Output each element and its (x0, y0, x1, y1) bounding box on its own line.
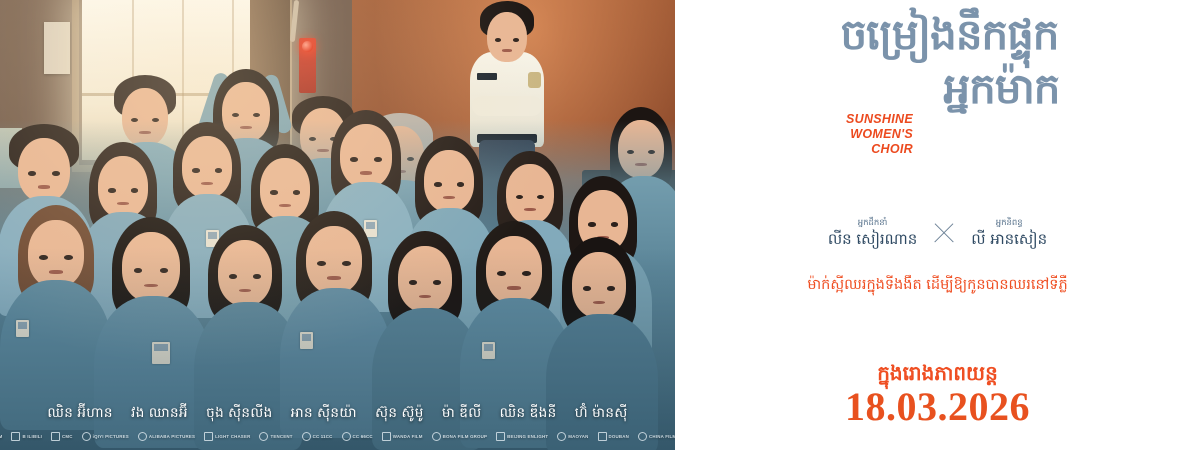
production-logo-label: ALIBABA PICTURES (149, 434, 195, 439)
officer-crossed-arms (472, 96, 542, 116)
fire-alarm-light-icon (302, 41, 313, 52)
production-logo: CC 11CC (302, 432, 333, 441)
person-row2-4 (260, 158, 310, 220)
credits-cross-icon (931, 220, 957, 246)
production-logo-label: DOUBAN (609, 434, 629, 439)
production-logo-label: LIGHT CHASER (215, 434, 250, 439)
production-logo-label: B ILIBILI (22, 434, 42, 439)
cast-name: ចុង ស៊ីនលីង (206, 405, 273, 420)
production-logo: TENCENT (259, 432, 292, 441)
production-logo-label: WANDA FILM (393, 434, 423, 439)
cast-name: ស៊ុន ស៊ូម៉ូ (375, 405, 424, 420)
production-logo-label: CMC (62, 434, 73, 439)
inmate-badge (152, 342, 170, 364)
inmate-badge (482, 342, 495, 359)
release-date: 18.03.2026 (675, 383, 1200, 430)
production-logo-label: CC 11CC (313, 434, 333, 439)
production-logo: LIGHT CHASER (204, 432, 250, 441)
cast-name-list: ឈិន អ៊ីហាន វង ឈានអ៊ី ចុង ស៊ីនលីង អាន ស៊ី… (0, 404, 675, 424)
producer-name: លី អានសៀន (971, 230, 1047, 249)
production-logo: MAOYAN (557, 432, 588, 441)
production-logo: WANDA FILM (382, 432, 423, 441)
movie-title-english: SUNSHINE WOMEN'S CHOIR (801, 112, 913, 156)
title-block: ចម្រៀងនឹកផ្ទុក អ្នកម៉ាក SUNSHINE WOMEN'S… (675, 8, 1200, 168)
production-logo: CHINA FILM (638, 432, 675, 441)
production-logo-label: TENCENT (270, 434, 292, 439)
person-row2-1 (18, 138, 70, 202)
person-officer (487, 12, 527, 62)
movie-poster-banner: ឈិន អ៊ីហាន វង ឈានអ៊ី ចុង ស៊ីនលីង អាន ស៊ី… (0, 0, 1200, 450)
wall-notice-paper (44, 22, 70, 74)
officer-rank-bar (477, 73, 497, 80)
crowd-group (0, 120, 675, 450)
cast-name: អាន ស៊ីនយ៉ា (291, 405, 357, 420)
producer-role-label: អ្នកនិពន្ធ (971, 218, 1047, 229)
person-front-7 (572, 252, 626, 318)
person-row2-3 (182, 136, 232, 198)
production-logo: BEIJING ENLIGHT (496, 432, 548, 441)
cast-name: ឈិន ឌីងនី (500, 405, 557, 420)
poster-photo: ឈិន អ៊ីហាន វង ឈានអ៊ី ចុង ស៊ីនលីង អាន ស៊ី… (0, 0, 675, 450)
movie-title-khmer-line1: ចម្រៀងនឹកផ្ទុក (675, 14, 1200, 56)
officer-shoulder-patch-icon (528, 72, 541, 88)
title-en-line2: WOMEN'S (801, 127, 913, 142)
production-logo-label: BEIJING ENLIGHT (507, 434, 548, 439)
poster-tagline: ម៉ាក់ស្អីឈរក្នុងទីងងឹត ដើម្បីឱ្យកូនបានឈរ… (675, 276, 1200, 297)
person-front-3 (218, 240, 272, 306)
director-name: លីន សៀរណាន (828, 230, 917, 249)
cast-name: ឈិន អ៊ីហាន (47, 405, 112, 420)
production-logo: iQIYI PICTURES (82, 432, 129, 441)
person-front-6 (486, 236, 542, 304)
person-front-5 (398, 246, 452, 312)
cast-name: ម៉ា ឌីលី (442, 405, 482, 420)
title-en-line3: CHOIR (801, 142, 913, 157)
production-logo: BONA FILM GROUP (432, 432, 488, 441)
title-en-line1: SUNSHINE (801, 112, 913, 127)
inmate-badge (16, 320, 29, 337)
production-logo-label: BONA FILM GROUP (443, 434, 488, 439)
producer-credit: អ្នកនិពន្ធ លី អានសៀន (971, 218, 1047, 248)
movie-title-khmer-line2: អ្នកម៉ាក (675, 68, 1200, 110)
credits-row: អ្នកដឹកនាំ លីន សៀរណាន អ្នកនិពន្ធ លី អានស… (675, 218, 1200, 248)
production-logo: ALIBABA PICTURES (138, 432, 195, 441)
person-row2-5 (340, 124, 392, 188)
production-logo: B ILIBILI (11, 432, 42, 441)
person-front-glasses (28, 220, 84, 288)
production-logo-label: HUAXIA FILM (0, 434, 2, 439)
production-logo: DOUBAN (598, 432, 629, 441)
production-logo-label: MAOYAN (568, 434, 588, 439)
production-logo: CC 66CC (342, 432, 373, 441)
person-front-4 (306, 226, 362, 294)
director-credit: អ្នកដឹកនាំ លីន សៀរណាន (828, 218, 917, 248)
person-row2-2 (98, 156, 148, 218)
person-row2-7 (506, 164, 554, 224)
production-logo-label: CHINA FILM (649, 434, 675, 439)
production-logo: CMC (51, 432, 73, 441)
director-role-label: អ្នកដឹកនាំ (828, 218, 917, 229)
production-logo-strip: HL CC 16CC HUAXIA FILM B ILIBILI CMC iQI… (0, 430, 675, 443)
poster-info-panel: ចម្រៀងនឹកផ្ទុក អ្នកម៉ាក SUNSHINE WOMEN'S… (675, 0, 1200, 450)
cast-name: ហ៊ំ ម៉ានស៊ី (575, 405, 628, 420)
cast-name: វង ឈានអ៊ី (131, 405, 188, 420)
person-front-center (122, 232, 180, 302)
production-logo: HUAXIA FILM (0, 432, 2, 441)
production-logo-label: iQIYI PICTURES (93, 434, 129, 439)
production-logo-label: CC 66CC (353, 434, 373, 439)
person-row2-6 (424, 150, 474, 212)
inmate-badge (300, 332, 313, 349)
